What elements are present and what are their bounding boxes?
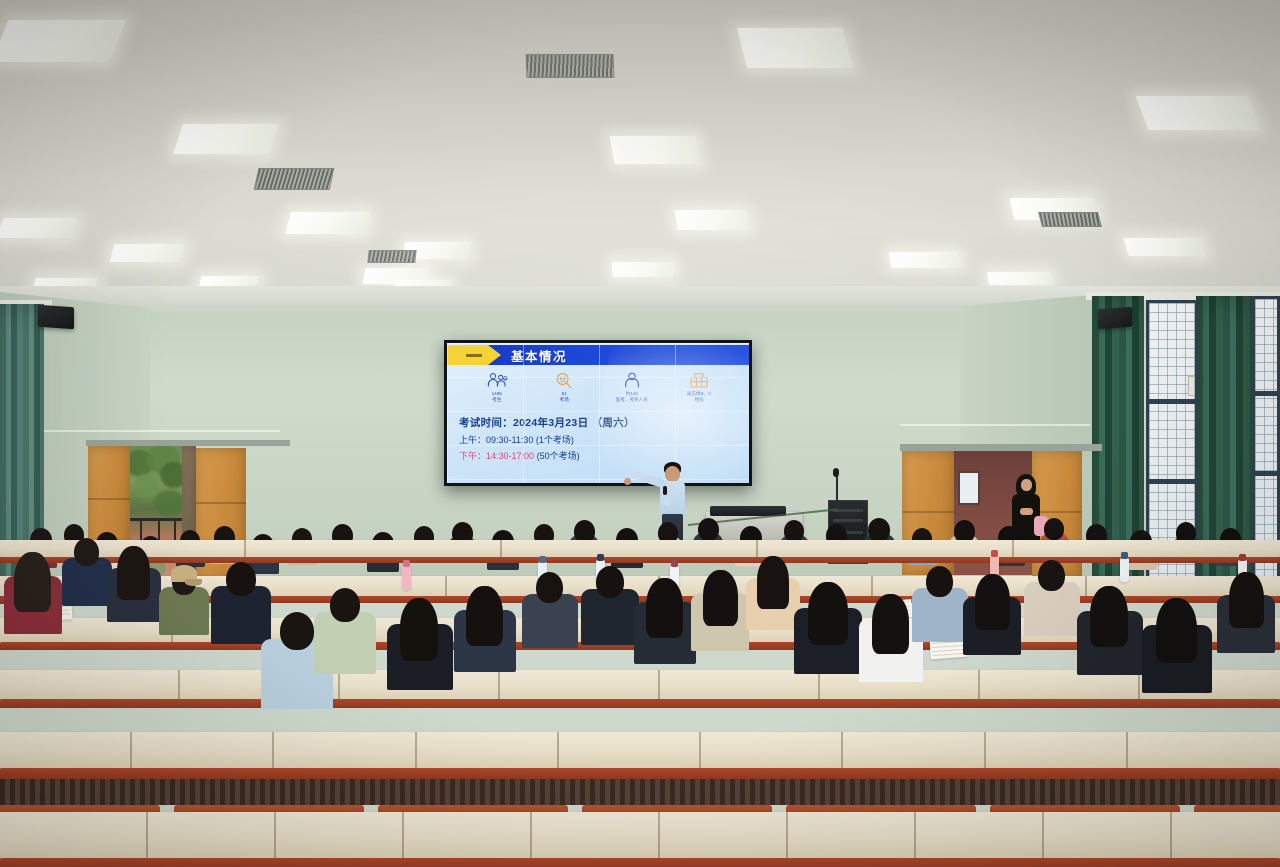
- desk-panel-seam: [658, 670, 660, 699]
- desk-surface: [0, 732, 1280, 768]
- audience-head: [926, 566, 953, 597]
- desk-panel-seam: [402, 812, 404, 858]
- door-frame-right: [900, 444, 1102, 451]
- slide-title-bar: 基本情况: [447, 345, 749, 365]
- desk-panel-seam: [274, 812, 276, 858]
- wall-trim-line: [40, 430, 280, 432]
- desk-panel-seam: [244, 540, 246, 557]
- desk-panel-seam: [841, 732, 843, 768]
- stat-item-exam-rooms: 51 考场: [531, 371, 599, 403]
- desk-panel-seam: [445, 576, 447, 596]
- microphone-head-icon: [833, 468, 839, 477]
- desk-panel-seam: [415, 732, 417, 768]
- ceiling: [0, 0, 1280, 330]
- desk-surface: [0, 812, 1280, 858]
- desk-panel-seam: [658, 812, 660, 858]
- audience-head: [330, 588, 360, 622]
- stat-label: 考生: [492, 397, 501, 403]
- slide-morning-line: 上午：09:30-11:30 (1个考场): [459, 432, 743, 448]
- desk-panel-seam: [272, 732, 274, 768]
- slide-stats-row: 1495 考生 51 考场: [447, 369, 749, 411]
- window-latch: [1188, 376, 1195, 396]
- lecture-hall-photo: 基本情况 1495 考生: [0, 0, 1280, 867]
- people-group-icon: [486, 371, 508, 390]
- magnifier-face-icon: [554, 371, 574, 390]
- desk-panel-seam: [130, 732, 132, 768]
- afternoon-note: (50个考场): [537, 451, 580, 461]
- attendant-face: [1021, 479, 1032, 491]
- stat-label: 楼栋: [695, 397, 704, 403]
- audience-head: [784, 520, 804, 542]
- building-icon: [689, 371, 709, 390]
- bottle-cap: [403, 560, 410, 567]
- bottle-cap: [991, 550, 998, 557]
- stat-item-invigilators: 约119 监考、考务人员: [598, 371, 666, 403]
- audience-head: [868, 518, 890, 542]
- audience-head: [812, 582, 844, 618]
- audience-head: [404, 598, 435, 634]
- desk-panel-seam: [914, 812, 916, 858]
- morning-value: 09:30-11:30 (1个考场): [486, 435, 574, 445]
- tag-dash-icon: [466, 354, 482, 357]
- window-mullion: [1149, 479, 1195, 484]
- bottle-cap: [1121, 552, 1128, 559]
- audience-head: [876, 594, 906, 628]
- audience-head: [698, 518, 719, 541]
- wall-speaker-left: [38, 305, 74, 330]
- cap-brim: [185, 579, 202, 586]
- audience-head: [280, 612, 314, 650]
- water-bottle: [1120, 558, 1129, 582]
- desk-panel-seam: [756, 540, 758, 557]
- desk-panel-seam: [1012, 540, 1014, 557]
- desk-panel-seam: [978, 670, 980, 699]
- wall-speaker-right: [1098, 307, 1132, 329]
- desk-front-edge: [0, 699, 1280, 708]
- afternoon-label: 下午：: [459, 451, 486, 461]
- audience-head: [470, 586, 500, 620]
- tree-foliage: [160, 462, 182, 488]
- audience-head: [706, 570, 734, 602]
- audience-member: [1232, 572, 1280, 662]
- presenter-head: [665, 466, 680, 482]
- desk-panel-seam: [1170, 812, 1172, 858]
- window-mullion: [1255, 471, 1277, 476]
- audience-head: [978, 574, 1006, 606]
- audience-head: [1094, 586, 1125, 621]
- slide-body-text: 考试时间：2024年3月23日 （周六） 上午：09:30-11:30 (1个考…: [459, 415, 743, 464]
- wall-trim-line: [900, 424, 1090, 426]
- bottle-cap: [539, 556, 546, 563]
- ceiling-shading: [0, 0, 1280, 330]
- bottle-cap: [597, 554, 604, 561]
- audience-head: [536, 572, 563, 603]
- audience-member: [330, 588, 392, 684]
- microphone-stand: [836, 476, 838, 502]
- audience-head: [1160, 598, 1193, 635]
- desk-panel-seam: [786, 812, 788, 858]
- desk-front-edge: [0, 768, 1280, 779]
- bottle-cap: [1239, 554, 1246, 561]
- window-mullion: [1149, 399, 1195, 404]
- water-bottle: [402, 566, 411, 590]
- audience-head: [760, 556, 786, 586]
- desk-panel-seam: [500, 540, 502, 557]
- desk-surface: [0, 540, 1280, 557]
- stat-label: 考场: [560, 397, 569, 403]
- handheld-microphone-icon: [663, 486, 667, 495]
- slide-title: 基本情况: [511, 346, 567, 365]
- audience-head: [596, 566, 624, 598]
- desk-panel-seam: [699, 732, 701, 768]
- desk-panel-seam: [530, 812, 532, 858]
- audience-head: [1044, 518, 1064, 540]
- audience-head: [1232, 572, 1260, 604]
- desk-panel-seam: [557, 732, 559, 768]
- presenter-hand: [624, 478, 631, 485]
- afternoon-time: 14:30-17:00: [486, 451, 534, 461]
- slide-section-tag: [447, 345, 501, 365]
- audience-head: [74, 538, 99, 566]
- audience-head: [1038, 560, 1065, 591]
- desk-panel-seam: [178, 670, 180, 699]
- window-mullion: [1255, 391, 1277, 396]
- audience-head: [120, 546, 147, 577]
- stat-item-buildings: 励志楼B、C 楼栋: [666, 371, 734, 403]
- stat-label: 监考、考务人员: [616, 397, 648, 403]
- desk-front-edge: [0, 858, 1280, 867]
- bottle-cap: [671, 560, 678, 567]
- seating-area: [0, 500, 1280, 867]
- morning-label: 上午：: [459, 435, 486, 445]
- desk-panel-seam: [1042, 812, 1044, 858]
- audience-head: [650, 578, 680, 612]
- single-person-icon: [623, 371, 641, 390]
- desk-panel-seam: [146, 812, 148, 858]
- desk-panel-seam: [984, 732, 986, 768]
- slide-exam-time-line: 考试时间：2024年3月23日 （周六）: [459, 415, 743, 432]
- desk-modesty-panel: [0, 779, 1280, 805]
- audience-head: [226, 562, 256, 596]
- desk-panel-seam: [1126, 732, 1128, 768]
- stat-item-candidates: 1495 考生: [463, 371, 531, 403]
- audience-head: [18, 552, 48, 586]
